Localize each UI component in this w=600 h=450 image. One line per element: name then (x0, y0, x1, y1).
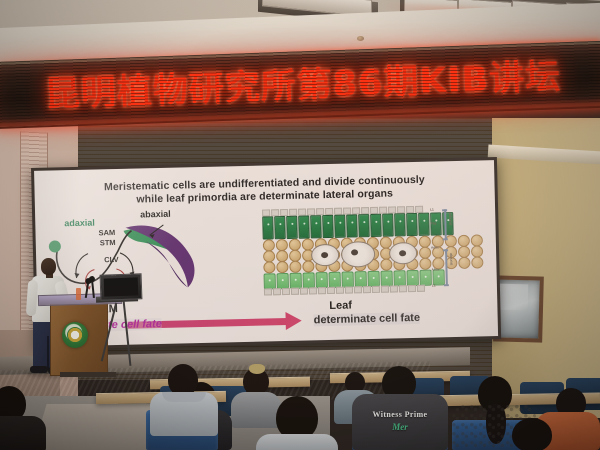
leaf-cell (302, 260, 314, 272)
leaf-cell (263, 261, 275, 273)
institute-emblem-icon (62, 322, 88, 348)
tshirt-text-line1: Witness Prime (352, 410, 448, 419)
leaf-cell (419, 258, 431, 270)
leaf-cell (286, 216, 298, 239)
label-sam: SAM (98, 228, 115, 237)
leaf-cell (381, 271, 393, 287)
leaf-cell (318, 287, 326, 294)
leaf-cell (264, 288, 272, 295)
leaf-cell (336, 287, 344, 294)
leaf-cross-section: adaxial abaxial L1 P1d Adax Abax L1 (262, 205, 440, 293)
fate-arrow-head (285, 312, 301, 330)
leaf-cell (370, 214, 382, 237)
tick-label-4: L1 (432, 284, 436, 288)
leaf-cell (316, 272, 328, 288)
leaf-cell (394, 270, 406, 286)
tick-label-3: Abax (431, 267, 439, 271)
leaf-cell (277, 273, 289, 289)
podium-base (60, 372, 116, 377)
leaf-cell (274, 216, 286, 239)
leaf-cell (310, 215, 322, 238)
leaf-cell (382, 213, 394, 236)
leaf-cell (368, 271, 380, 287)
leaf-cell (345, 286, 353, 293)
leaf-cell (408, 285, 416, 292)
leaf-cell (342, 271, 354, 287)
leaf-cell (282, 288, 290, 295)
head (512, 418, 552, 450)
leaf-cell (300, 288, 308, 295)
axis-label-abaxial: abaxial (449, 253, 453, 265)
leaf-cell (390, 285, 398, 292)
leaf-cell (363, 286, 371, 293)
tick-label-1: P1d (430, 221, 436, 225)
leaf-cell (358, 214, 370, 237)
caption-leaf-fate: determinate cell fate (314, 312, 421, 327)
leaf-cell (355, 271, 367, 287)
laptop-screen (104, 277, 139, 296)
tick-label-0: L1 (430, 208, 434, 212)
slide-title: Meristematic cells are undifferentiated … (54, 173, 474, 209)
caption-leaf: Leaf (329, 299, 352, 312)
torso (0, 416, 46, 450)
leaf-cell (290, 273, 302, 289)
leaf-cell (303, 272, 315, 288)
label-abaxial: abaxial (140, 209, 171, 220)
leaf-cell (327, 287, 335, 294)
leaf-cell (273, 288, 281, 295)
leaf-cell (354, 286, 362, 293)
leaf-cell (334, 215, 346, 238)
window-glare (498, 284, 529, 311)
leaf-cell (406, 213, 418, 236)
leaf-cell (407, 270, 419, 286)
speaker-shoe-left (30, 366, 48, 373)
water-bottle (76, 288, 81, 300)
leaf-cell (289, 261, 301, 273)
leaf-cell (264, 273, 276, 289)
lecture-hall-photo: 昆明植物研究所第86期KIB讲坛 Meristematic cells are … (0, 0, 600, 450)
leaf-cell (262, 216, 274, 239)
leaf-cell (380, 259, 392, 271)
ceiling-light-dot (357, 36, 364, 41)
leaf-cell (458, 257, 470, 269)
leaf-cell (417, 285, 425, 292)
speaker-head (41, 258, 56, 275)
torso (231, 392, 281, 428)
speaker-leg-split (47, 336, 49, 370)
hood (162, 392, 206, 402)
leaf-cell (329, 272, 341, 288)
tick-label-2: Adax (431, 245, 439, 249)
leaf-cell (372, 286, 380, 293)
axis-label-adaxial: adaxial (448, 213, 452, 225)
tshirt: Witness Prime Mer (352, 394, 448, 450)
leaf-cell (399, 285, 407, 292)
torso (256, 434, 338, 450)
leaf-cell (471, 256, 483, 268)
leaf-cell (381, 286, 389, 293)
leaf-cell (394, 213, 406, 236)
leaf-cell (298, 215, 310, 238)
leaf-cell (309, 287, 317, 294)
leaf-cell (346, 214, 358, 237)
label-clv: CLV (104, 255, 119, 264)
leaf-cell (291, 288, 299, 295)
leaf-cell (322, 215, 334, 238)
meristem-dome (49, 240, 61, 252)
leaf-cell (420, 270, 432, 286)
hair-tie (249, 364, 265, 374)
leaf-cell (276, 261, 288, 273)
laptop (100, 273, 143, 300)
tshirt-text-line2: Mer (352, 422, 448, 432)
label-adaxial: adaxial (64, 218, 95, 229)
label-stm: STM (100, 238, 116, 247)
leaf-cell (418, 213, 430, 236)
